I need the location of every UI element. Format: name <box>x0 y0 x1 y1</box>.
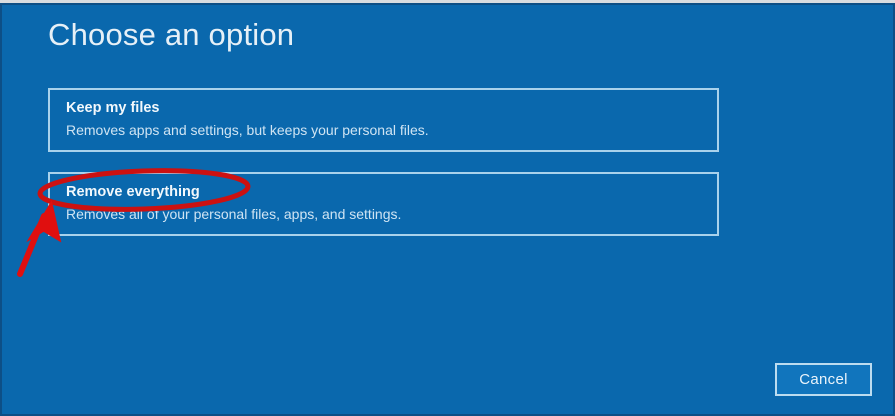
option-description-keep-my-files: Removes apps and settings, but keeps you… <box>66 121 717 139</box>
option-title-remove-everything: Remove everything <box>66 183 717 201</box>
cancel-button[interactable]: Cancel <box>775 363 872 396</box>
option-keep-my-files[interactable]: Keep my files Removes apps and settings,… <box>48 88 719 152</box>
page-title: Choose an option <box>48 17 294 53</box>
recovery-choose-option-screen: Choose an option Keep my files Removes a… <box>0 0 895 416</box>
screen-root: Choose an option Keep my files Removes a… <box>0 0 895 416</box>
option-description-remove-everything: Removes all of your personal files, apps… <box>66 205 717 223</box>
option-title-keep-my-files: Keep my files <box>66 99 717 117</box>
option-remove-everything[interactable]: Remove everything Removes all of your pe… <box>48 172 719 236</box>
